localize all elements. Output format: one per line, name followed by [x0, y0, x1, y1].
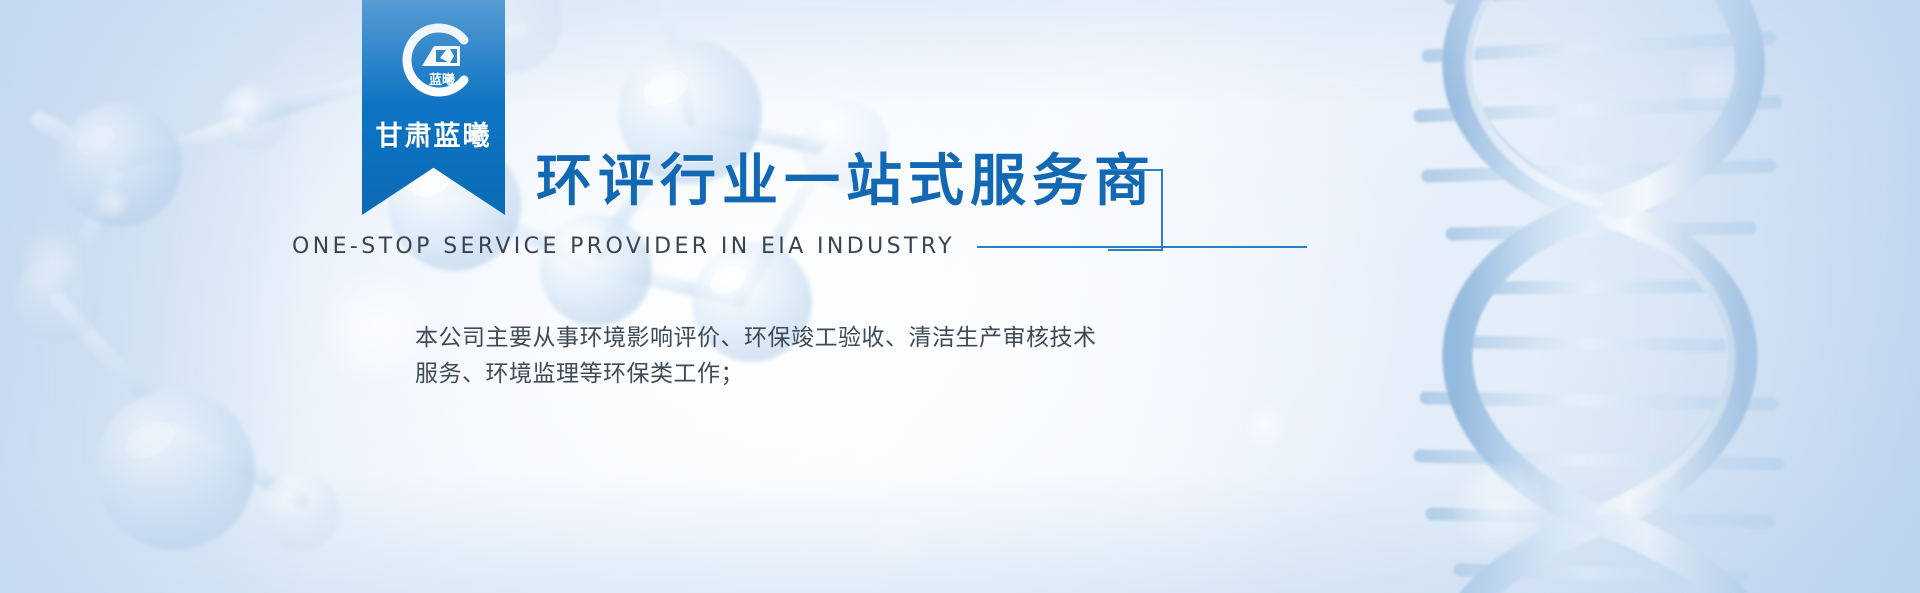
subtitle-rule	[977, 246, 1307, 248]
dna-double-helix-illustration	[1300, 0, 1920, 593]
hero-subtitle-en: ONE-STOP SERVICE PROVIDER IN EIA INDUSTR…	[292, 234, 955, 259]
bokeh-light-7	[860, 504, 932, 576]
hero-subtitle-row: ONE-STOP SERVICE PROVIDER IN EIA INDUSTR…	[292, 234, 1307, 259]
molecule-structure-illustration	[0, 0, 1920, 593]
hero-headline: 环评行业一站式服务商	[536, 136, 1156, 217]
bokeh-light-2	[96, 186, 130, 220]
bokeh-light-4	[1452, 460, 1548, 556]
brand-ribbon: 蓝曦 甘肃蓝曦	[362, 0, 505, 215]
bokeh-light-1	[18, 228, 84, 294]
company-name: 甘肃蓝曦	[376, 114, 492, 153]
logo-mark-text: 蓝曦	[428, 72, 454, 88]
hero-description-line-2: 服务、环境监理等环保类工作；	[415, 356, 1097, 392]
company-emblem-icon: 蓝曦	[390, 16, 478, 104]
bokeh-light-5	[1684, 52, 1742, 110]
bokeh-light-6	[1244, 404, 1288, 448]
hero-description-line-1: 本公司主要从事环境影响评价、环保竣工验收、清洁生产审核技术	[415, 320, 1097, 356]
hero-description: 本公司主要从事环境影响评价、环保竣工验收、清洁生产审核技术 服务、环境监理等环保…	[415, 320, 1097, 392]
site-hero-banner: 蓝曦 甘肃蓝曦 环评行业一站式服务商 ONE-STOP SERVICE PROV…	[0, 0, 1920, 593]
edge-vignette	[0, 0, 1920, 593]
